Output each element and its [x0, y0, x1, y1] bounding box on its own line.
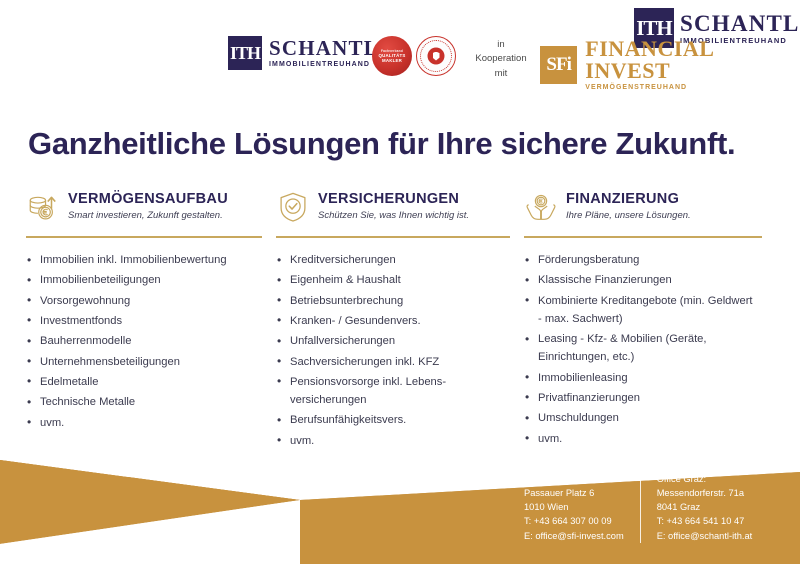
- column-header: VERSICHERUNGEN Schützen Sie, was Ihnen w…: [276, 186, 508, 228]
- service-list-vermoegensaufbau: Immobilien inkl. Immobilienbewertung Imm…: [26, 251, 260, 432]
- service-columns: VERMÖGENSAUFBAU Smart investieren, Zukun…: [26, 186, 776, 452]
- office-city: 8041 Graz: [657, 500, 753, 514]
- office-city: 1010 Wien: [524, 500, 624, 514]
- column-title: FINANZIERUNG: [566, 192, 691, 208]
- office-graz-block: Office Graz: Messendorferstr. 71a 8041 G…: [640, 472, 769, 543]
- office-label: Office Wien:: [524, 472, 624, 486]
- certification-seals: Fachverband QUALITÄTS MAKLER: [372, 36, 456, 76]
- column-divider: [524, 236, 762, 238]
- column-header: VERMÖGENSAUFBAU Smart investieren, Zukun…: [26, 186, 260, 228]
- seal-line1: Fachverband: [381, 49, 403, 53]
- list-item: Eigenheim & Haushalt: [276, 271, 508, 289]
- cooperation-text: in Kooperation mit: [468, 38, 534, 81]
- column-subtitle: Schützen Sie, was Ihnen wichtig ist.: [318, 210, 469, 221]
- seal-crest-icon: [428, 48, 445, 65]
- cooperation-line-3: mit: [468, 67, 534, 81]
- column-heading-text: FINANZIERUNG Ihre Pläne, unsere Lösungen…: [566, 192, 691, 221]
- office-email[interactable]: E: office@schantl-ith.at: [657, 529, 753, 543]
- list-item: Sachversicherungen inkl. KFZ: [276, 353, 508, 371]
- flyer-page: ITH SCHANTL IMMOBILIENTREUHAND ITH SCHAN…: [0, 0, 800, 564]
- column-versicherungen: VERSICHERUNGEN Schützen Sie, was Ihnen w…: [276, 186, 524, 452]
- list-item: Immobilienbeteiligungen: [26, 271, 260, 289]
- office-phone[interactable]: T: +43 664 307 00 09: [524, 514, 624, 528]
- office-label: Office Graz:: [657, 472, 753, 486]
- column-heading-text: VERMÖGENSAUFBAU Smart investieren, Zukun…: [68, 192, 228, 221]
- logo-schantl-main: ITH SCHANTL IMMOBILIENTREUHAND: [228, 36, 379, 70]
- column-divider: [276, 236, 510, 238]
- qualitaets-makler-seal: Fachverband QUALITÄTS MAKLER: [372, 36, 412, 76]
- office-wien-block: Office Wien: Passauer Platz 6 1010 Wien …: [524, 472, 640, 543]
- list-item: Klassische Finanzierungen: [524, 271, 758, 289]
- list-item: Kombinierte Kreditangebote (min. Geldwer…: [524, 292, 758, 328]
- schantl-tagline: IMMOBILIENTREUHAND: [269, 61, 379, 68]
- list-item: Förderungsberatung: [524, 251, 758, 269]
- list-item: Leasing - Kfz- & Mobilien (Geräte, Einri…: [524, 330, 758, 366]
- office-email[interactable]: E: office@sfi-invest.com: [524, 529, 624, 543]
- shield-check-icon: [276, 190, 310, 224]
- list-item: Immobilienleasing: [524, 369, 758, 387]
- footer-contacts: Office Wien: Passauer Platz 6 1010 Wien …: [524, 472, 768, 543]
- list-item: Vorsorgewohnung: [26, 292, 260, 310]
- office-street: Passauer Platz 6: [524, 486, 624, 500]
- ith-monogram-icon: ITH: [228, 36, 262, 70]
- sfi-wordmark: FINANCIAL INVEST VERMÖGENSTREUHAND: [585, 38, 800, 91]
- column-finanzierung: FINANZIERUNG Ihre Pläne, unsere Lösungen…: [524, 186, 774, 452]
- column-subtitle: Smart investieren, Zukunft gestalten.: [68, 210, 228, 221]
- list-item: Unfallversicherungen: [276, 332, 508, 350]
- list-item: Edelmetalle: [26, 373, 260, 391]
- service-list-finanzierung: Förderungsberatung Klassische Finanzieru…: [524, 251, 758, 448]
- office-street: Messendorferstr. 71a: [657, 486, 753, 500]
- column-divider: [26, 236, 262, 238]
- wirtschaftskammer-seal: [416, 36, 456, 76]
- schantl-name: SCHANTL: [269, 38, 379, 59]
- office-phone[interactable]: T: +43 664 541 10 47: [657, 514, 753, 528]
- schantl-wordmark: SCHANTL IMMOBILIENTREUHAND: [269, 38, 379, 68]
- cooperation-line-2: Kooperation: [468, 52, 534, 66]
- column-title: VERSICHERUNGEN: [318, 192, 469, 208]
- list-item: Kranken- / Gesundenvers.: [276, 312, 508, 330]
- seal-line3: MAKLER: [382, 58, 402, 64]
- column-subtitle: Ihre Pläne, unsere Lösungen.: [566, 210, 691, 221]
- service-list-versicherungen: Kreditversicherungen Eigenheim & Haushal…: [276, 251, 508, 450]
- list-item: Investmentfonds: [26, 312, 260, 330]
- list-item: Technische Metalle: [26, 393, 260, 411]
- list-item: Unternehmensbeteiligungen: [26, 353, 260, 371]
- column-heading-text: VERSICHERUNGEN Schützen Sie, was Ihnen w…: [318, 192, 469, 221]
- column-vermoegensaufbau: VERMÖGENSAUFBAU Smart investieren, Zukun…: [26, 186, 276, 452]
- logo-sfi-financial-invest: SFi FINANCIAL INVEST VERMÖGENSTREUHAND: [540, 38, 800, 91]
- sfi-name: FINANCIAL INVEST: [585, 38, 800, 82]
- list-item: uvm.: [26, 414, 260, 432]
- list-item: Kreditversicherungen: [276, 251, 508, 269]
- column-header: FINANZIERUNG Ihre Pläne, unsere Lösungen…: [524, 186, 758, 228]
- sfi-tagline: VERMÖGENSTREUHAND: [585, 84, 800, 91]
- list-item: Privatfinanzierungen: [524, 389, 758, 407]
- sfi-monogram-icon: SFi: [540, 46, 577, 84]
- hands-holding-coin-icon: [524, 190, 558, 224]
- list-item: Berufsunfähigkeitsvers.: [276, 411, 508, 429]
- header: ITH SCHANTL IMMOBILIENTREUHAND ITH SCHAN…: [0, 0, 800, 112]
- cooperation-line-1: in: [468, 38, 534, 52]
- column-title: VERMÖGENSAUFBAU: [68, 192, 228, 208]
- list-item: Pensionsvorsorge inkl. Lebens-versicheru…: [276, 373, 508, 409]
- schantl-name: SCHANTL: [680, 12, 800, 35]
- list-item: Umschuldungen: [524, 409, 758, 427]
- list-item: Immobilien inkl. Immobilienbewertung: [26, 251, 260, 269]
- coins-euro-growth-icon: [26, 190, 60, 224]
- list-item: Betriebsunterbrechung: [276, 292, 508, 310]
- page-title: Ganzheitliche Lösungen für Ihre sichere …: [28, 126, 735, 162]
- list-item: Bauherrenmodelle: [26, 332, 260, 350]
